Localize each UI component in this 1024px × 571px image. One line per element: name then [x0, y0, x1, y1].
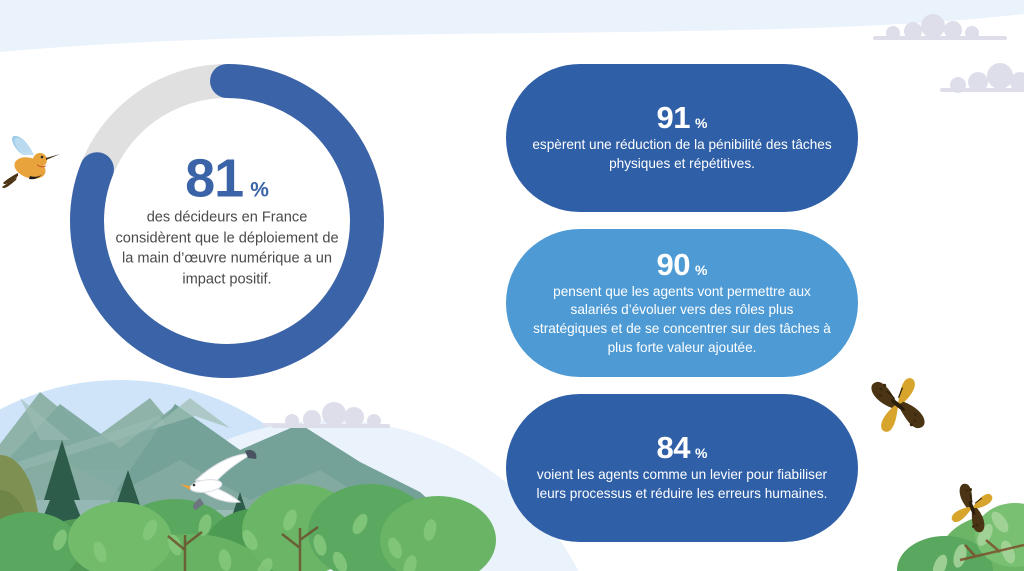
donut-value-row: 81 % [109, 152, 345, 206]
butterfly-upper-icon [870, 374, 926, 436]
stat-card-90-value: 90 [657, 249, 690, 280]
stat-card-90-caption: pensent que les agents vont permettre au… [532, 283, 832, 358]
bush-illustration [0, 484, 496, 571]
stat-card-84-value: 84 [657, 432, 690, 463]
hummingbird-icon [2, 136, 60, 188]
stat-card-84-percent-symbol: % [695, 446, 707, 460]
stat-card-91-caption: espèrent une réduction de la pénibilité … [532, 136, 832, 174]
stat-card-91-percent-symbol: % [695, 116, 707, 130]
donut-value: 81 [185, 152, 243, 206]
infographic-canvas: 81 % des décideurs en France considèrent… [0, 0, 1024, 571]
donut-percent-symbol: % [250, 180, 269, 201]
stat-card-91-value: 91 [657, 102, 690, 133]
cloud-right-edge [940, 63, 1024, 93]
stat-card-84-caption: voient les agents comme un levier pour f… [532, 466, 832, 504]
cloud-small-right [262, 423, 302, 427]
cloud-top-right [873, 14, 1007, 40]
seagull-icon [180, 450, 256, 510]
stat-card-84: 84 % voient les agents comme un levier p… [506, 394, 858, 542]
donut-chart-81: 81 % des décideurs en France considèrent… [62, 56, 392, 386]
cloud-middle [272, 402, 390, 428]
bush-bottom-right [897, 503, 1024, 571]
stat-card-90: 90 % pensent que les agents vont permett… [506, 229, 858, 377]
donut-center-label: 81 % des décideurs en France considèrent… [109, 152, 345, 291]
stat-card-91-value-row: 91 % [657, 102, 708, 133]
stat-card-91: 91 % espèrent une réduction de la pénibi… [506, 64, 858, 212]
butterfly-lower-icon [949, 483, 996, 534]
stat-card-90-value-row: 90 % [657, 249, 708, 280]
tree-illustration [0, 440, 256, 548]
sky-band [0, 0, 1024, 52]
stat-card-90-percent-symbol: % [695, 263, 707, 277]
mountain-illustration [0, 392, 440, 520]
stat-card-84-value-row: 84 % [657, 432, 708, 463]
donut-caption: des décideurs en France considèrent que … [109, 208, 345, 291]
